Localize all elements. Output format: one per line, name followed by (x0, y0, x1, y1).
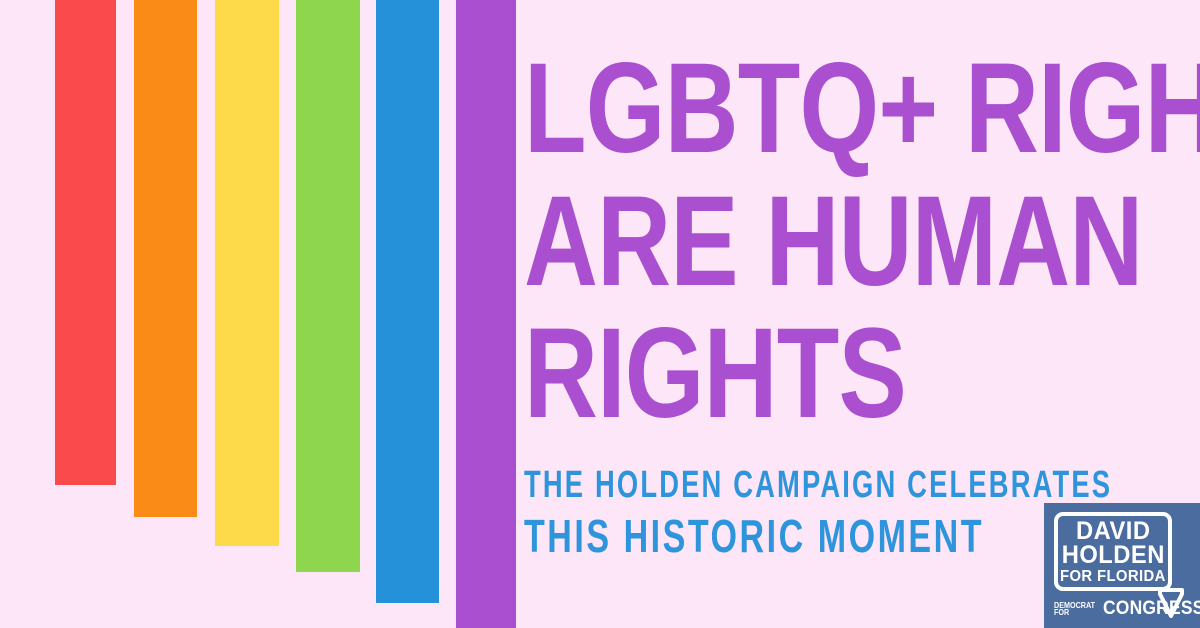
logo-party-block: DEMOCRAT FOR (1054, 602, 1100, 617)
logo-footer: DEMOCRAT FOR CONGRESS (1054, 598, 1200, 620)
pride-bar-yellow (215, 0, 279, 546)
logo-first-name: DAVID (1076, 519, 1151, 543)
headline-line-2: ARE HUMAN (524, 179, 1060, 306)
subtitle-line-2: THIS HISTORIC MOMENT (524, 512, 968, 560)
logo-speech-bubble: DAVID HOLDEN FOR FLORIDA (1054, 512, 1172, 591)
headline-line-1: LGBTQ+ RIGHTS (524, 46, 1060, 173)
logo-office: CONGRESS (1103, 598, 1200, 620)
pride-bar-green (296, 0, 360, 572)
pride-bar-orange (134, 0, 197, 517)
headline-line-3: RIGHTS (524, 311, 1060, 438)
logo-for-state: FOR FLORIDA (1060, 569, 1166, 586)
pride-bar-red (55, 0, 116, 485)
subtitle-line-1: THE HOLDEN CAMPAIGN CELEBRATES (524, 466, 956, 504)
logo-last-name: HOLDEN (1061, 543, 1164, 567)
social-graphic-canvas: LGBTQ+ RIGHTS ARE HUMAN RIGHTS THE HOLDE… (0, 0, 1200, 628)
pride-bar-blue (376, 0, 439, 603)
headline: LGBTQ+ RIGHTS ARE HUMAN RIGHTS (524, 46, 1194, 444)
logo-for-label: FOR (1054, 609, 1095, 616)
pride-bar-purple (456, 0, 516, 628)
subtitle: THE HOLDEN CAMPAIGN CELEBRATES THIS HIST… (524, 466, 1124, 560)
campaign-logo: DAVID HOLDEN FOR FLORIDA DEMOCRAT FOR CO… (1044, 503, 1200, 628)
